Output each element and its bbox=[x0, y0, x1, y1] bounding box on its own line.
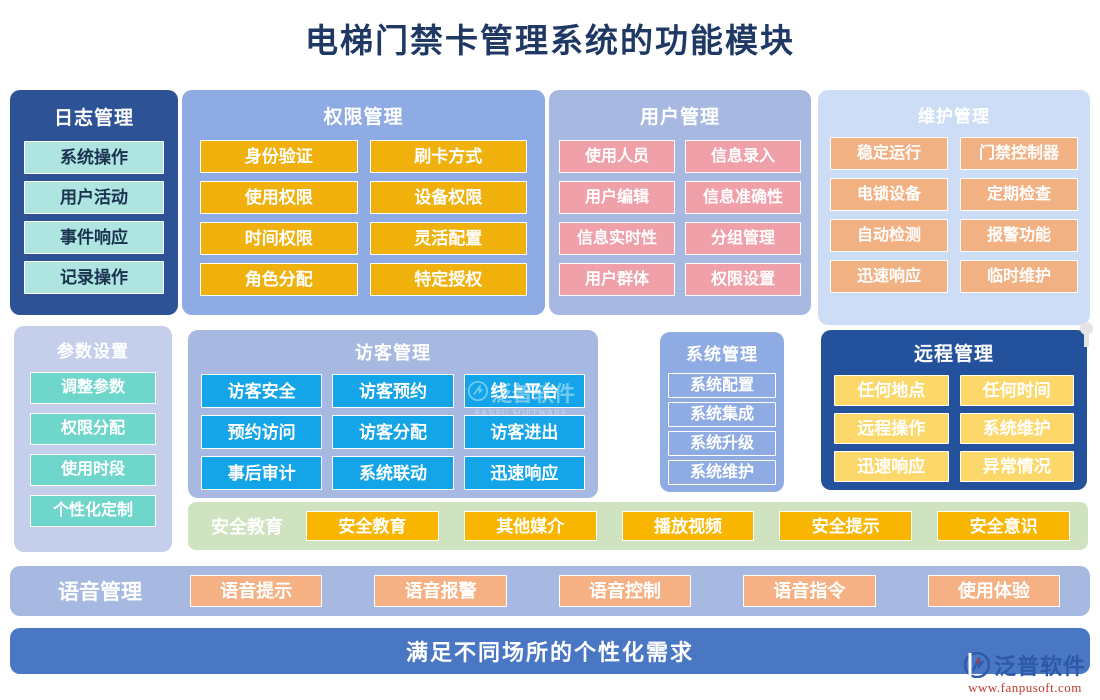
chip-log-2[interactable]: 事件响应 bbox=[24, 221, 164, 254]
chip-system-3[interactable]: 系统维护 bbox=[668, 460, 776, 485]
chip-maintenance-0[interactable]: 稳定运行 bbox=[830, 137, 948, 170]
chip-grid-maintenance: 稳定运行 门禁控制器 电锁设备 定期检查 自动检测 报警功能 迅速响应 临时维护 bbox=[830, 137, 1078, 293]
chip-user-5[interactable]: 分组管理 bbox=[685, 222, 801, 255]
brand-logo: 泛普软件 www.fanpusoft.com bbox=[964, 649, 1086, 696]
panel-parameter-settings: 参数设置 调整参数 权限分配 使用时段 个性化定制 bbox=[14, 326, 172, 552]
panel-title-user: 用户管理 bbox=[549, 102, 811, 129]
chip-voice-3[interactable]: 语音指令 bbox=[743, 575, 875, 607]
chip-safety-2[interactable]: 播放视频 bbox=[622, 511, 755, 541]
chip-safety-0[interactable]: 安全教育 bbox=[306, 511, 439, 541]
chip-visitor-3[interactable]: 预约访问 bbox=[201, 415, 322, 449]
chip-remote-4[interactable]: 迅速响应 bbox=[834, 451, 949, 482]
chip-log-1[interactable]: 用户活动 bbox=[24, 181, 164, 214]
chip-system-0[interactable]: 系统配置 bbox=[668, 373, 776, 398]
chip-maintenance-7[interactable]: 临时维护 bbox=[960, 260, 1078, 293]
chip-visitor-6[interactable]: 事后审计 bbox=[201, 456, 322, 490]
infographic-root: 电梯门禁卡管理系统的功能模块 日志管理 系统操作 用户活动 事件响应 记录操作 … bbox=[0, 0, 1100, 700]
chip-visitor-0[interactable]: 访客安全 bbox=[201, 374, 322, 408]
footer-banner: 满足不同场所的个性化需求 bbox=[10, 628, 1090, 674]
chip-grid-system: 系统配置 系统集成 系统升级 系统维护 bbox=[668, 373, 776, 485]
chip-user-0[interactable]: 使用人员 bbox=[559, 140, 675, 173]
chip-grid-visitor: 访客安全 访客预约 线上平台 预约访问 访客分配 访客进出 事后审计 系统联动 … bbox=[201, 374, 585, 490]
chip-parameter-1[interactable]: 权限分配 bbox=[30, 413, 156, 445]
chip-permission-0[interactable]: 身份验证 bbox=[200, 140, 358, 173]
chip-permission-7[interactable]: 特定授权 bbox=[370, 263, 528, 296]
chip-remote-1[interactable]: 任何时间 bbox=[960, 375, 1075, 406]
panel-maintenance-management: 维护管理 稳定运行 门禁控制器 电锁设备 定期检查 自动检测 报警功能 迅速响应… bbox=[818, 90, 1090, 325]
band-label-safety: 安全教育 bbox=[188, 513, 306, 539]
chip-voice-1[interactable]: 语音报警 bbox=[374, 575, 506, 607]
brand-row: 泛普软件 bbox=[964, 649, 1086, 681]
chip-visitor-4[interactable]: 访客分配 bbox=[332, 415, 453, 449]
chip-log-3[interactable]: 记录操作 bbox=[24, 261, 164, 294]
chip-permission-2[interactable]: 使用权限 bbox=[200, 181, 358, 214]
chip-system-1[interactable]: 系统集成 bbox=[668, 402, 776, 427]
panel-title-visitor: 访客管理 bbox=[188, 339, 598, 365]
chip-grid-remote: 任何地点 任何时间 远程操作 系统维护 迅速响应 异常情况 bbox=[834, 375, 1074, 482]
brand-name: 泛普软件 bbox=[994, 649, 1086, 681]
chip-user-6[interactable]: 用户群体 bbox=[559, 263, 675, 296]
pin-decoration-icon bbox=[1080, 322, 1093, 335]
band-safety-education: 安全教育 安全教育 其他媒介 播放视频 安全提示 安全意识 bbox=[188, 502, 1088, 550]
chip-permission-1[interactable]: 刷卡方式 bbox=[370, 140, 528, 173]
panel-system-management: 系统管理 系统配置 系统集成 系统升级 系统维护 bbox=[660, 332, 784, 492]
chip-voice-4[interactable]: 使用体验 bbox=[928, 575, 1060, 607]
chip-user-3[interactable]: 信息准确性 bbox=[685, 181, 801, 214]
fanpu-logo-icon bbox=[964, 652, 990, 678]
chip-permission-5[interactable]: 灵活配置 bbox=[370, 222, 528, 255]
chip-visitor-7[interactable]: 系统联动 bbox=[332, 456, 453, 490]
chip-safety-1[interactable]: 其他媒介 bbox=[464, 511, 597, 541]
chip-remote-0[interactable]: 任何地点 bbox=[834, 375, 949, 406]
chip-user-7[interactable]: 权限设置 bbox=[685, 263, 801, 296]
panel-permission-management: 权限管理 身份验证 刷卡方式 使用权限 设备权限 时间权限 灵活配置 角色分配 … bbox=[182, 90, 545, 315]
chip-maintenance-3[interactable]: 定期检查 bbox=[960, 178, 1078, 211]
panel-title-system: 系统管理 bbox=[660, 340, 784, 365]
chip-visitor-5[interactable]: 访客进出 bbox=[464, 415, 585, 449]
chip-visitor-1[interactable]: 访客预约 bbox=[332, 374, 453, 408]
chip-visitor-2[interactable]: 线上平台 bbox=[464, 374, 585, 408]
chip-maintenance-2[interactable]: 电锁设备 bbox=[830, 178, 948, 211]
chip-safety-4[interactable]: 安全意识 bbox=[937, 511, 1070, 541]
chip-parameter-0[interactable]: 调整参数 bbox=[30, 372, 156, 404]
chip-maintenance-4[interactable]: 自动检测 bbox=[830, 219, 948, 252]
chip-remote-2[interactable]: 远程操作 bbox=[834, 413, 949, 444]
chip-maintenance-6[interactable]: 迅速响应 bbox=[830, 260, 948, 293]
chip-log-0[interactable]: 系统操作 bbox=[24, 141, 164, 174]
band-items-safety: 安全教育 其他媒介 播放视频 安全提示 安全意识 bbox=[306, 511, 1088, 541]
band-label-voice: 语音管理 bbox=[10, 576, 190, 606]
chip-parameter-2[interactable]: 使用时段 bbox=[30, 454, 156, 486]
chip-user-1[interactable]: 信息录入 bbox=[685, 140, 801, 173]
panel-title-parameter: 参数设置 bbox=[14, 337, 172, 362]
panel-title-permission: 权限管理 bbox=[182, 102, 545, 129]
panel-remote-management: 远程管理 任何地点 任何时间 远程操作 系统维护 迅速响应 异常情况 bbox=[821, 330, 1087, 490]
panel-user-management: 用户管理 使用人员 信息录入 用户编辑 信息准确性 信息实时性 分组管理 用户群… bbox=[549, 90, 811, 315]
chip-visitor-8[interactable]: 迅速响应 bbox=[464, 456, 585, 490]
chip-grid-permission: 身份验证 刷卡方式 使用权限 设备权限 时间权限 灵活配置 角色分配 特定授权 bbox=[200, 140, 527, 296]
panel-log-management: 日志管理 系统操作 用户活动 事件响应 记录操作 bbox=[10, 90, 178, 315]
chip-voice-2[interactable]: 语音控制 bbox=[559, 575, 691, 607]
band-voice-management: 语音管理 语音提示 语音报警 语音控制 语音指令 使用体验 bbox=[10, 566, 1090, 616]
band-items-voice: 语音提示 语音报警 语音控制 语音指令 使用体验 bbox=[190, 575, 1090, 607]
panel-visitor-management: 访客管理 访客安全 访客预约 线上平台 预约访问 访客分配 访客进出 事后审计 … bbox=[188, 330, 598, 498]
chip-user-2[interactable]: 用户编辑 bbox=[559, 181, 675, 214]
chip-voice-0[interactable]: 语音提示 bbox=[190, 575, 322, 607]
chip-permission-4[interactable]: 时间权限 bbox=[200, 222, 358, 255]
chip-maintenance-1[interactable]: 门禁控制器 bbox=[960, 137, 1078, 170]
chip-grid-log: 系统操作 用户活动 事件响应 记录操作 bbox=[24, 141, 164, 294]
chip-remote-3[interactable]: 系统维护 bbox=[960, 413, 1075, 444]
chip-maintenance-5[interactable]: 报警功能 bbox=[960, 219, 1078, 252]
chip-grid-user: 使用人员 信息录入 用户编辑 信息准确性 信息实时性 分组管理 用户群体 权限设… bbox=[559, 140, 801, 296]
chip-permission-3[interactable]: 设备权限 bbox=[370, 181, 528, 214]
panel-title-remote: 远程管理 bbox=[821, 339, 1087, 366]
chip-user-4[interactable]: 信息实时性 bbox=[559, 222, 675, 255]
brand-url: www.fanpusoft.com bbox=[968, 680, 1082, 696]
chip-grid-parameter: 调整参数 权限分配 使用时段 个性化定制 bbox=[30, 372, 156, 527]
panel-title-maintenance: 维护管理 bbox=[818, 102, 1090, 127]
page-title: 电梯门禁卡管理系统的功能模块 bbox=[0, 14, 1100, 62]
panel-title-log: 日志管理 bbox=[10, 103, 178, 130]
chip-permission-6[interactable]: 角色分配 bbox=[200, 263, 358, 296]
chip-safety-3[interactable]: 安全提示 bbox=[779, 511, 912, 541]
chip-parameter-3[interactable]: 个性化定制 bbox=[30, 495, 156, 527]
chip-remote-5[interactable]: 异常情况 bbox=[960, 451, 1075, 482]
chip-system-2[interactable]: 系统升级 bbox=[668, 431, 776, 456]
